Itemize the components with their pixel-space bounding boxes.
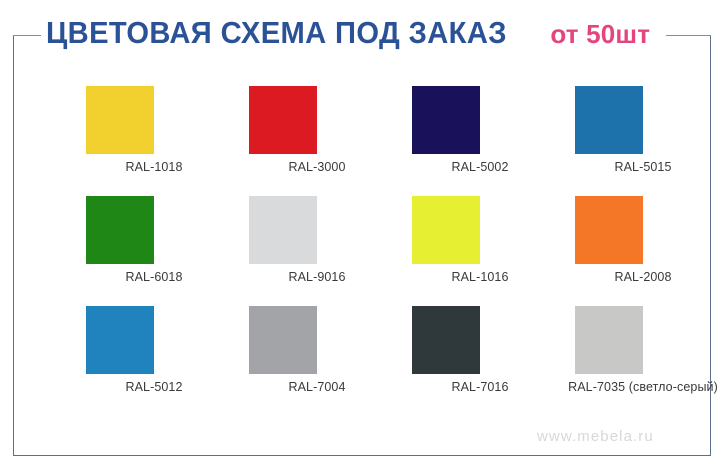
color-swatch-cell[interactable]: RAL-7016: [412, 306, 575, 416]
color-chip[interactable]: [575, 86, 643, 154]
minimum-order-note: от 50шт: [550, 21, 650, 47]
color-swatch-cell[interactable]: RAL-6018: [86, 196, 249, 306]
color-chip[interactable]: [575, 306, 643, 374]
frame-border-top-left: [13, 35, 41, 36]
color-swatch-cell[interactable]: RAL-1016: [412, 196, 575, 306]
color-swatch-grid: RAL-1018RAL-3000RAL-5002RAL-5015RAL-6018…: [86, 86, 686, 416]
page-title-text: ЦВЕТОВАЯ СХЕМА ПОД ЗАКАЗ: [46, 17, 507, 48]
color-chip-label: RAL-2008: [563, 270, 723, 285]
color-swatch-cell[interactable]: RAL-2008: [575, 196, 728, 306]
color-swatch-cell[interactable]: RAL-3000: [249, 86, 412, 196]
color-chip[interactable]: [249, 196, 317, 264]
color-chip-label: RAL-7035 (светло-серый): [563, 380, 723, 395]
frame-border-bottom: [13, 455, 711, 456]
color-chip[interactable]: [86, 86, 154, 154]
frame-border-top-right: [666, 35, 711, 36]
color-swatch-cell[interactable]: RAL-5015: [575, 86, 728, 196]
color-chip-label: RAL-1016: [400, 270, 560, 285]
color-chip-label: RAL-7016: [400, 380, 560, 395]
color-chip[interactable]: [575, 196, 643, 264]
color-chip[interactable]: [86, 306, 154, 374]
color-chip-label: RAL-3000: [237, 160, 397, 175]
color-chip[interactable]: [412, 86, 480, 154]
site-watermark: www.mebela.ru: [537, 428, 654, 445]
color-chip[interactable]: [412, 306, 480, 374]
color-chip[interactable]: [86, 196, 154, 264]
color-chip-label: RAL-5012: [74, 380, 234, 395]
color-chart-page: ЦВЕТОВАЯ СХЕМА ПОД ЗАКАЗ от 50шт RAL-101…: [0, 0, 728, 467]
color-swatch-cell[interactable]: RAL-7035 (светло-серый): [575, 306, 728, 416]
color-swatch-cell[interactable]: RAL-7004: [249, 306, 412, 416]
color-chip-label: RAL-9016: [237, 270, 397, 285]
page-title: ЦВЕТОВАЯ СХЕМА ПОД ЗАКАЗ от 50шт: [46, 17, 650, 48]
color-chip-label: RAL-7004: [237, 380, 397, 395]
color-chip-label: RAL-1018: [74, 160, 234, 175]
color-chip-label: RAL-6018: [74, 270, 234, 285]
color-chip[interactable]: [412, 196, 480, 264]
color-chip-label: RAL-5002: [400, 160, 560, 175]
frame-border-left: [13, 35, 14, 456]
color-swatch-cell[interactable]: RAL-9016: [249, 196, 412, 306]
color-swatch-cell[interactable]: RAL-1018: [86, 86, 249, 196]
color-swatch-cell[interactable]: RAL-5002: [412, 86, 575, 196]
color-chip-label: RAL-5015: [563, 160, 723, 175]
color-chip[interactable]: [249, 306, 317, 374]
color-chip[interactable]: [249, 86, 317, 154]
color-swatch-cell[interactable]: RAL-5012: [86, 306, 249, 416]
